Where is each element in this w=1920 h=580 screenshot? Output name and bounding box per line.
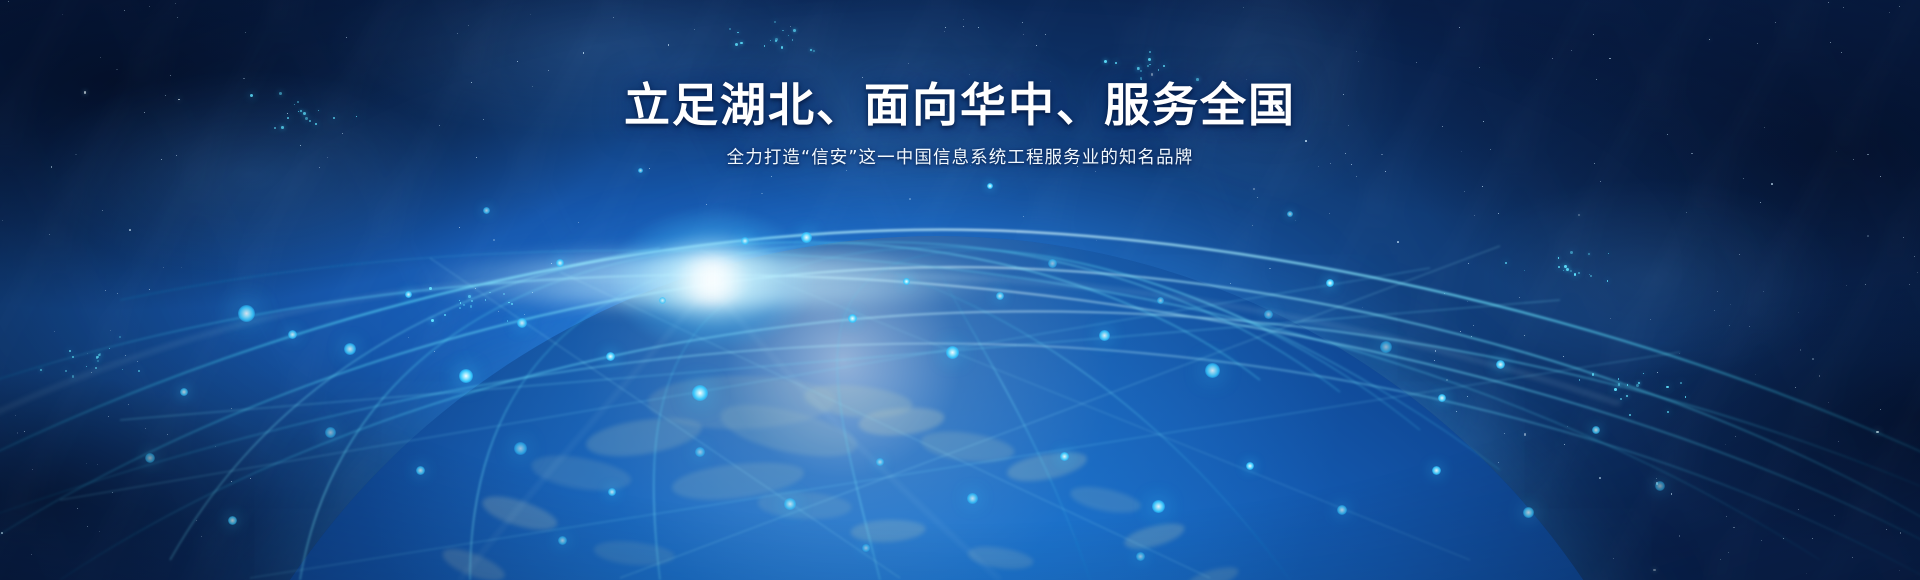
hero-banner: 立足湖北、面向华中、服务全国 全力打造“信安”这一中国信息系统工程服务业的知名品… (0, 0, 1920, 580)
banner-subline: 全力打造“信安”这一中国信息系统工程服务业的知名品牌 (0, 150, 1920, 168)
banner-headline: 立足湖北、面向华中、服务全国 (0, 82, 1920, 128)
banner-copy: 立足湖北、面向华中、服务全国 全力打造“信安”这一中国信息系统工程服务业的知名品… (0, 82, 1920, 168)
